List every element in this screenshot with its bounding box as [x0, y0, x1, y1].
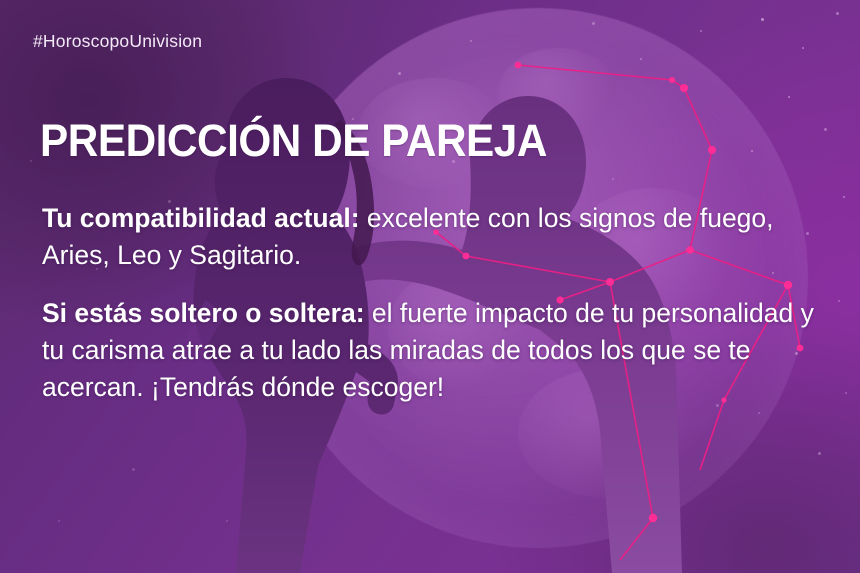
horoscope-card: #HoroscopoUnivision PREDICCIÓN DE PAREJA…: [0, 0, 860, 573]
paragraph-single: Si estás soltero o soltera: el fuerte im…: [42, 295, 832, 406]
body-copy: Tu compatibilidad actual: excelente con …: [42, 200, 832, 406]
paragraph-compatibility: Tu compatibilidad actual: excelente con …: [42, 200, 832, 274]
paragraph-compatibility-lead: Tu compatibilidad actual:: [42, 203, 360, 233]
paragraph-single-lead: Si estás soltero o soltera:: [42, 298, 365, 328]
hashtag-label: #HoroscopoUnivision: [33, 31, 202, 52]
page-title: PREDICCIÓN DE PAREJA: [40, 118, 547, 163]
